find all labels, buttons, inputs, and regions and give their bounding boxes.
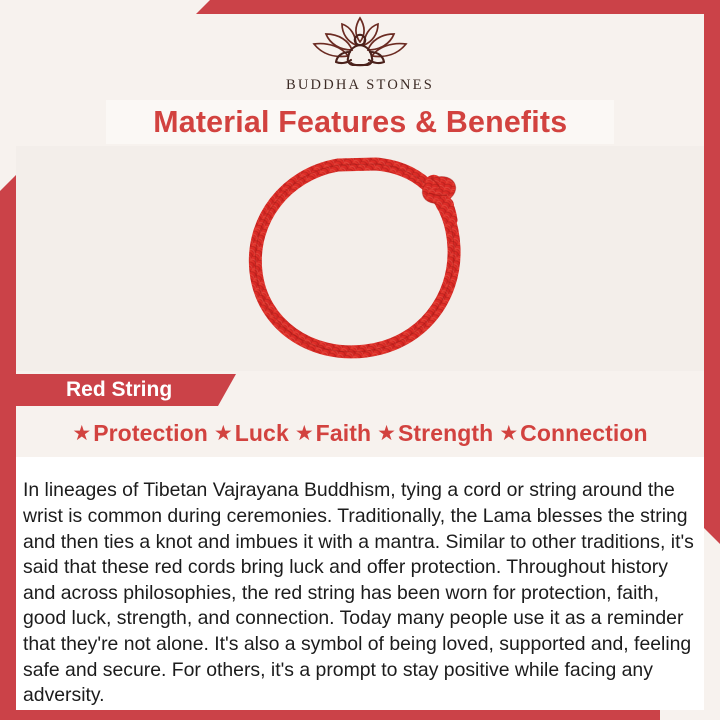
page-title: Material Features & Benefits: [153, 104, 567, 140]
red-braided-string-bracelet-image: [226, 148, 494, 370]
product-photo-area: [16, 146, 704, 371]
benefit-label: Faith: [316, 420, 371, 447]
star-icon: ★: [214, 423, 233, 444]
benefit-item-protection: ★ Protection: [72, 420, 208, 447]
benefit-item-faith: ★ Faith: [295, 420, 371, 447]
benefit-label: Luck: [235, 420, 289, 447]
star-icon: ★: [499, 423, 518, 444]
product-name: Red String: [16, 378, 172, 402]
infographic-page: BUDDHA STONES Material Features & Benefi…: [0, 0, 720, 720]
benefit-item-luck: ★ Luck: [214, 420, 289, 447]
benefit-label: Strength: [398, 420, 493, 447]
description-panel: In lineages of Tibetan Vajrayana Buddhis…: [16, 457, 704, 710]
benefits-row: ★ Protection ★ Luck ★ Faith ★ Strength ★…: [0, 420, 720, 447]
product-name-banner: Red String: [16, 374, 236, 406]
brand-wordmark: BUDDHA STONES: [0, 77, 720, 94]
lotus-meditation-icon: [306, 12, 414, 74]
star-icon: ★: [72, 423, 91, 444]
star-icon: ★: [377, 423, 396, 444]
benefit-item-strength: ★ Strength: [377, 420, 493, 447]
frame-bottom-bar: [0, 710, 660, 720]
star-icon: ★: [295, 423, 314, 444]
frame-left-bar: [0, 175, 16, 720]
benefit-label: Connection: [520, 420, 648, 447]
brand-logo: BUDDHA STONES: [0, 12, 720, 94]
description-text: In lineages of Tibetan Vajrayana Buddhis…: [23, 478, 699, 708]
benefit-item-connection: ★ Connection: [499, 420, 647, 447]
benefit-label: Protection: [93, 420, 208, 447]
page-title-band: Material Features & Benefits: [106, 100, 614, 144]
